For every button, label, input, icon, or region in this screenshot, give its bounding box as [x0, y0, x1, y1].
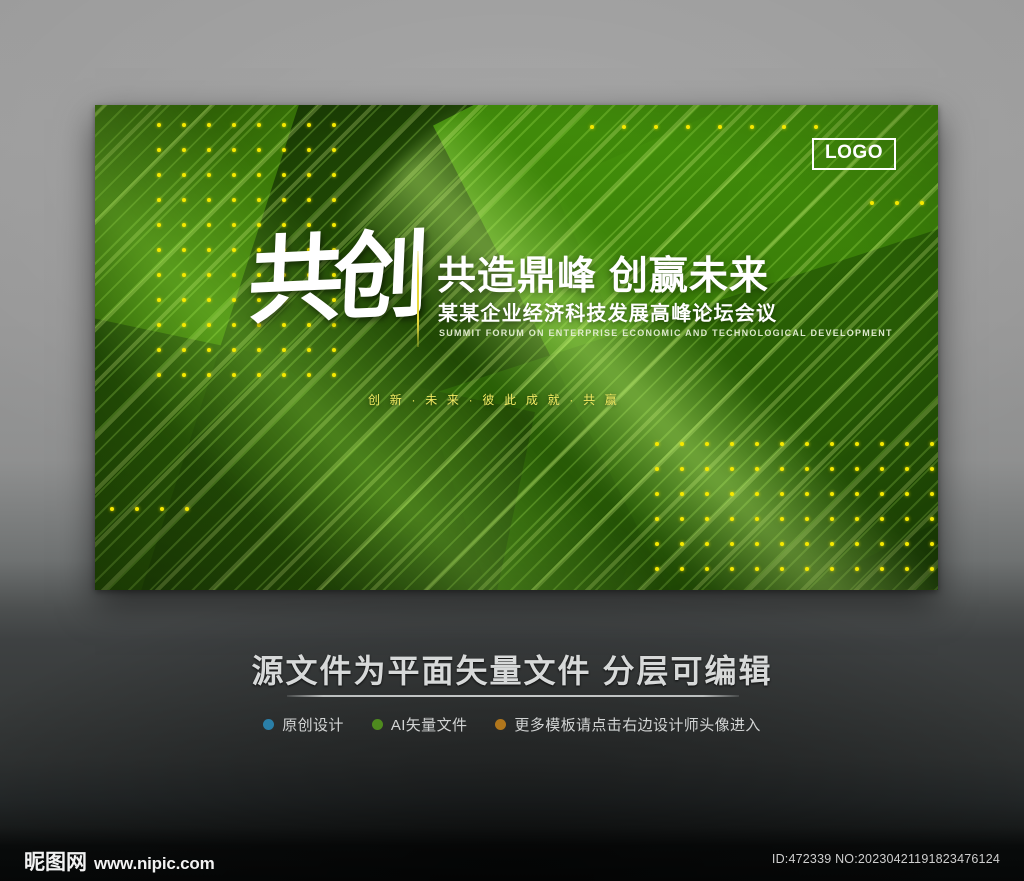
decorative-dot	[232, 273, 236, 277]
decorative-dot	[157, 123, 161, 127]
decorative-dot	[332, 148, 336, 152]
info-bullet-label: 原创设计	[282, 714, 344, 735]
decorative-dot	[182, 223, 186, 227]
decorative-dot	[805, 442, 809, 446]
decorative-dot	[905, 492, 909, 496]
decorative-dot	[905, 542, 909, 546]
decorative-dot	[655, 467, 659, 471]
decorative-dot	[782, 125, 786, 129]
decorative-dot	[655, 517, 659, 521]
decorative-dot	[805, 567, 809, 571]
decorative-dot	[332, 198, 336, 202]
decorative-dot	[880, 442, 884, 446]
decorative-dot	[207, 273, 211, 277]
info-bullet-item: 更多模板请点击右边设计师头像进入	[495, 714, 760, 735]
info-divider	[287, 695, 739, 697]
decorative-dot	[182, 173, 186, 177]
decorative-dot	[207, 148, 211, 152]
footer-brand-cn: 昵图网	[24, 846, 87, 876]
decorative-dot	[705, 542, 709, 546]
decorative-dot	[830, 542, 834, 546]
decorative-dot	[895, 201, 899, 205]
banner-headline: 共造鼎峰 创赢未来	[437, 245, 769, 301]
info-bullet-label: 更多模板请点击右边设计师头像进入	[514, 714, 760, 735]
decorative-dot	[680, 492, 684, 496]
decorative-dot	[755, 542, 759, 546]
decorative-dot	[750, 125, 754, 129]
banner-artwork: LOGO 共创 共造鼎峰 创赢未来 某某企业经济科技发展高峰论坛会议 SUMMI…	[95, 105, 938, 590]
decorative-dot	[755, 517, 759, 521]
decorative-dot	[730, 467, 734, 471]
footer-brand: 昵图网 www.nipic.com	[24, 846, 215, 876]
decorative-dot	[755, 467, 759, 471]
decorative-dot	[282, 148, 286, 152]
decorative-dot	[880, 517, 884, 521]
decorative-dot	[182, 323, 186, 327]
decorative-dot	[282, 123, 286, 127]
decorative-dot	[157, 223, 161, 227]
decorative-dot	[157, 173, 161, 177]
decorative-dot	[730, 542, 734, 546]
decorative-dot	[182, 148, 186, 152]
decorative-dot	[654, 125, 658, 129]
decorative-dot	[755, 492, 759, 496]
decorative-dot	[257, 373, 261, 377]
decorative-dot	[307, 123, 311, 127]
decorative-dot	[920, 201, 924, 205]
decorative-dot	[780, 517, 784, 521]
decorative-dot	[157, 198, 161, 202]
decorative-dot	[332, 123, 336, 127]
decorative-dot	[705, 467, 709, 471]
decorative-dot	[655, 492, 659, 496]
decorative-dot	[157, 323, 161, 327]
decorative-dot	[855, 517, 859, 521]
decorative-dot	[110, 507, 114, 511]
decorative-dot	[905, 442, 909, 446]
decorative-dot	[207, 173, 211, 177]
decorative-dot	[590, 125, 594, 129]
decorative-dot	[680, 542, 684, 546]
decorative-dot	[855, 567, 859, 571]
decorative-dot	[182, 273, 186, 277]
decorative-dot	[232, 223, 236, 227]
decorative-dot	[655, 542, 659, 546]
decorative-dot	[232, 373, 236, 377]
decorative-dot	[830, 467, 834, 471]
decorative-dot	[730, 567, 734, 571]
decorative-dot	[755, 567, 759, 571]
decorative-dot	[157, 148, 161, 152]
decorative-dot	[232, 123, 236, 127]
decorative-dot	[655, 442, 659, 446]
decorative-dot	[730, 442, 734, 446]
decorative-dot	[282, 198, 286, 202]
decorative-dot	[207, 123, 211, 127]
decorative-dot	[257, 148, 261, 152]
info-bullet-list: 原创设计AI矢量文件更多模板请点击右边设计师头像进入	[0, 714, 1024, 735]
decorative-dot	[257, 173, 261, 177]
decorative-dot	[805, 492, 809, 496]
decorative-dot	[282, 173, 286, 177]
footer-brand-url: www.nipic.com	[94, 854, 215, 874]
banner-tagline: 创 新 · 未 来 · 彼 此 成 就 · 共 赢	[368, 391, 620, 408]
banner-english-subtitle: SUMMIT FORUM ON ENTERPRISE ECONOMIC AND …	[439, 328, 893, 338]
decorative-dot	[855, 442, 859, 446]
decorative-dot	[207, 348, 211, 352]
decorative-dot	[257, 123, 261, 127]
decorative-dot	[680, 442, 684, 446]
decorative-dot	[780, 442, 784, 446]
decorative-dot	[182, 348, 186, 352]
decorative-dot	[870, 201, 874, 205]
banner-subheadline: 某某企业经济科技发展高峰论坛会议	[438, 297, 777, 326]
decorative-dot	[686, 125, 690, 129]
decorative-dot	[207, 298, 211, 302]
bullet-dot-icon	[263, 719, 274, 730]
decorative-dot	[930, 442, 934, 446]
decorative-dot	[780, 467, 784, 471]
decorative-dot	[232, 198, 236, 202]
info-bullet-item: 原创设计	[263, 714, 344, 735]
bullet-dot-icon	[372, 719, 383, 730]
decorative-dot	[780, 567, 784, 571]
decorative-dot	[680, 467, 684, 471]
decorative-dot	[307, 373, 311, 377]
info-bullet-label: AI矢量文件	[391, 714, 468, 735]
decorative-dot	[232, 148, 236, 152]
decorative-dot	[855, 542, 859, 546]
decorative-dot	[160, 507, 164, 511]
decorative-dot	[232, 348, 236, 352]
title-divider	[417, 251, 419, 347]
decorative-dot	[830, 442, 834, 446]
decorative-dot	[705, 442, 709, 446]
banner-vignette	[95, 105, 938, 590]
decorative-dot	[905, 567, 909, 571]
decorative-dot	[207, 323, 211, 327]
decorative-dot	[185, 507, 189, 511]
decorative-dot	[182, 198, 186, 202]
decorative-dot	[855, 467, 859, 471]
decorative-dot	[805, 542, 809, 546]
decorative-dot	[232, 173, 236, 177]
decorative-dot	[755, 442, 759, 446]
decorative-dot	[880, 467, 884, 471]
decorative-dot	[157, 348, 161, 352]
decorative-dot	[855, 492, 859, 496]
decorative-dot	[307, 148, 311, 152]
info-bullet-item: AI矢量文件	[372, 714, 468, 735]
info-title: 源文件为平面矢量文件 分层可编辑	[0, 646, 1024, 692]
decorative-dot	[182, 373, 186, 377]
decorative-dot	[232, 298, 236, 302]
decorative-dot	[805, 467, 809, 471]
decorative-dot	[680, 517, 684, 521]
decorative-dot	[780, 492, 784, 496]
decorative-dot	[780, 542, 784, 546]
decorative-dot	[332, 173, 336, 177]
decorative-dot	[655, 567, 659, 571]
decorative-dot	[207, 373, 211, 377]
decorative-dot	[930, 567, 934, 571]
decorative-dot	[880, 567, 884, 571]
decorative-dot	[880, 542, 884, 546]
decorative-dot	[930, 467, 934, 471]
decorative-dot	[905, 517, 909, 521]
decorative-dot	[805, 517, 809, 521]
decorative-dot	[207, 223, 211, 227]
decorative-dot	[307, 173, 311, 177]
decorative-dot	[930, 492, 934, 496]
calligraphy-title: 共创	[245, 229, 419, 356]
decorative-dot	[705, 517, 709, 521]
bullet-dot-icon	[495, 719, 506, 730]
decorative-dot	[905, 467, 909, 471]
decorative-dot	[705, 567, 709, 571]
decorative-dot	[830, 567, 834, 571]
decorative-dot	[730, 492, 734, 496]
decorative-dot	[307, 198, 311, 202]
decorative-dot	[232, 323, 236, 327]
decorative-dot	[680, 567, 684, 571]
decorative-dot	[182, 298, 186, 302]
decorative-dot	[930, 542, 934, 546]
decorative-dot	[880, 492, 884, 496]
decorative-dot	[814, 125, 818, 129]
decorative-dot	[332, 373, 336, 377]
decorative-dot	[157, 298, 161, 302]
decorative-dot	[207, 198, 211, 202]
decorative-dot	[157, 248, 161, 252]
logo-label: LOGO	[825, 142, 883, 163]
decorative-dot	[830, 492, 834, 496]
decorative-dot	[705, 492, 709, 496]
decorative-dot	[232, 248, 236, 252]
decorative-dot	[622, 125, 626, 129]
decorative-dot	[157, 273, 161, 277]
decorative-dot	[930, 517, 934, 521]
decorative-dot	[135, 507, 139, 511]
decorative-dot	[718, 125, 722, 129]
decorative-dot	[157, 373, 161, 377]
decorative-dot	[257, 198, 261, 202]
decorative-dot	[730, 517, 734, 521]
decorative-dot	[282, 373, 286, 377]
decorative-dot	[182, 123, 186, 127]
footer-id-text: ID:472339 NO:20230421191823476124	[772, 852, 1000, 866]
logo-placeholder[interactable]: LOGO	[812, 138, 896, 170]
decorative-dot	[182, 248, 186, 252]
decorative-dot	[830, 517, 834, 521]
decorative-dot	[207, 248, 211, 252]
